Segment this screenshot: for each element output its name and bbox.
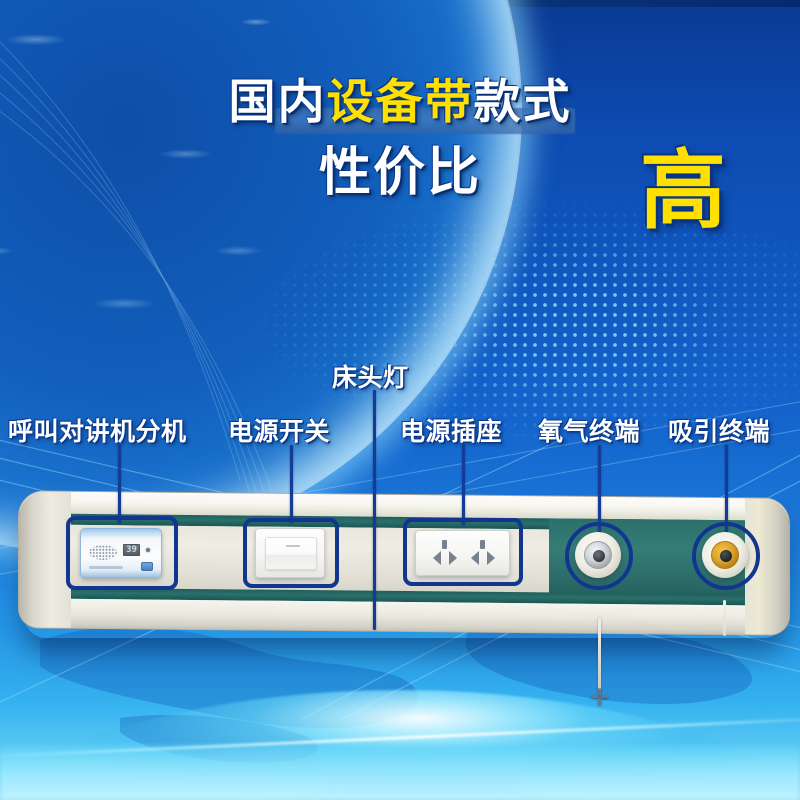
leader-line-power-outlet bbox=[462, 445, 465, 525]
leader-line-intercom bbox=[118, 445, 121, 523]
callout-label-suction-terminal: 吸引终端 bbox=[668, 412, 770, 448]
pull-cord-knob-icon[interactable]: ✛ bbox=[588, 686, 611, 709]
headline-seg-1: 国内 bbox=[229, 75, 327, 128]
headline-seg-4: 性价比 bbox=[319, 144, 481, 202]
leader-line-power-switch bbox=[290, 445, 293, 523]
leader-line-bed-lamp bbox=[373, 390, 376, 630]
highlight-box-intercom bbox=[66, 516, 178, 590]
bottom-glow-fill bbox=[0, 745, 800, 800]
callout-label-oxygen-terminal: 氧气终端 bbox=[538, 412, 640, 448]
callout-label-bed-lamp: 床头灯 bbox=[332, 358, 409, 394]
leader-line-oxygen-terminal bbox=[598, 445, 601, 533]
headline-seg-2: 设备带 bbox=[327, 75, 474, 128]
callout-label-intercom: 呼叫对讲机分机 bbox=[8, 412, 187, 448]
pull-cord[interactable] bbox=[598, 618, 601, 690]
highlight-circle-suction bbox=[692, 522, 760, 590]
product-poster: 国内设备带款式 性价比 高 呼叫对讲机分机 电源开关 床头灯 电源插座 氧气终端… bbox=[0, 0, 800, 800]
headline-line-1: 国内设备带款式 bbox=[0, 78, 800, 125]
headline-emphasis: 高 bbox=[640, 148, 726, 234]
highlight-circle-oxygen bbox=[565, 522, 633, 590]
callout-label-power-switch: 电源开关 bbox=[228, 412, 330, 448]
headline-seg-3: 款式 bbox=[474, 75, 572, 128]
highlight-box-power-outlet bbox=[403, 518, 523, 586]
suction-terminal-cord bbox=[723, 600, 726, 636]
callout-label-power-outlet: 电源插座 bbox=[400, 412, 502, 448]
unit-end-cap-left bbox=[19, 491, 71, 629]
highlight-box-power-switch bbox=[243, 518, 339, 588]
leader-line-suction-terminal bbox=[725, 445, 728, 533]
